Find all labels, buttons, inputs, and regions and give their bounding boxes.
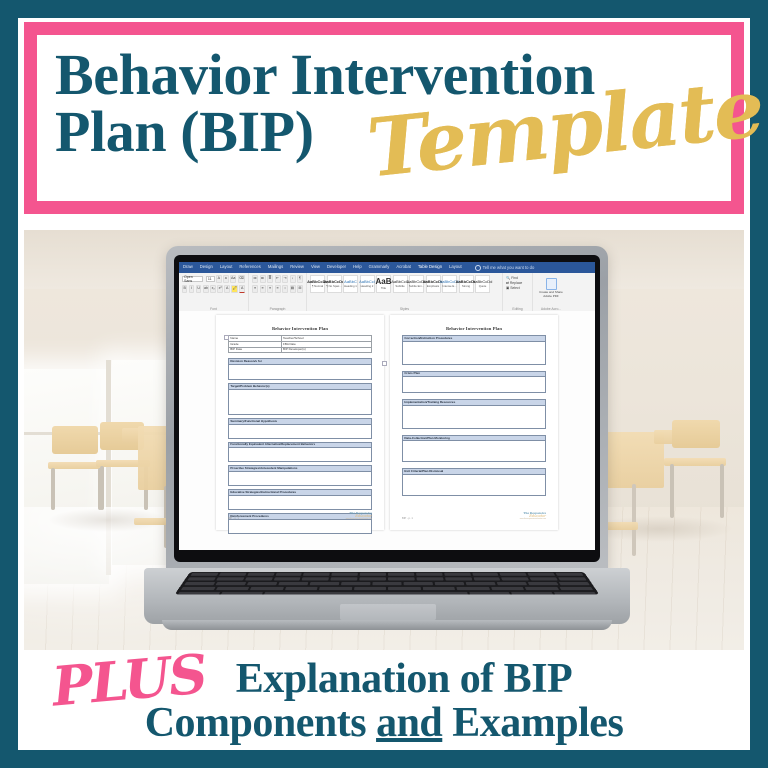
clear-formatting-icon[interactable]: ⌫ <box>238 275 245 283</box>
bold-icon[interactable]: B <box>182 285 187 293</box>
align-center-icon[interactable]: ≡ <box>260 285 266 293</box>
document-title: Behavior Intervention Plan <box>228 326 372 331</box>
section-body[interactable] <box>402 377 546 393</box>
decrease-indent-icon[interactable]: ⇤ <box>275 275 281 283</box>
justify-icon[interactable]: ≡ <box>275 285 281 293</box>
bottom-line-2-part-c: Examples <box>442 700 623 746</box>
plus-script-word: PLUS <box>50 641 209 718</box>
section-header: Revision Reason/s for <box>228 358 372 365</box>
chair-leg <box>670 464 674 518</box>
table-move-handle[interactable] <box>224 335 229 340</box>
word-ribbon-tabs[interactable]: Draw Design Layout References Mailings R… <box>179 262 595 273</box>
find-button[interactable]: 🔍 Find <box>506 277 529 280</box>
table-resize-handle[interactable] <box>382 361 387 366</box>
section-header: Data-Collection/Plan Monitoring <box>402 435 546 442</box>
tell-me-placeholder: Tell me what you want to do <box>483 265 535 270</box>
ribbon-group-styles: AaBbCcDd ¶ Normal AaBbCcDd ¶ No Spac... … <box>307 273 503 311</box>
section-summary-hypothesis[interactable]: Summary/Functional Hypothesis <box>228 418 372 439</box>
section-crisis-plan[interactable]: Crisis Plan <box>402 371 546 394</box>
style-label: Heading 1 <box>344 285 357 288</box>
sort-icon[interactable]: ↓ <box>290 275 296 283</box>
superscript-icon[interactable]: x² <box>217 285 222 293</box>
style-intense-emphasis[interactable]: AaBbCcDd Intense E... <box>442 275 457 293</box>
brand-logo: The Responsive Educator www.theresponsiv… <box>346 512 372 521</box>
section-body[interactable] <box>228 448 372 462</box>
style-label: Heading 2 <box>361 285 374 288</box>
replace-label: Replace <box>510 282 522 285</box>
tab-design[interactable]: Design <box>200 265 213 269</box>
style-label: Quote <box>479 285 487 288</box>
section-header: Summary/Functional Hypothesis <box>228 418 372 425</box>
chair-leg <box>720 464 724 518</box>
font-size-box[interactable]: 11 <box>206 276 215 282</box>
page-footer: BIP - p. 1 The Responsive Educator www.t… <box>402 512 546 521</box>
title-banner: Behavior Intervention Plan (BIP) Templat… <box>24 22 744 214</box>
tab-draw[interactable]: Draw <box>183 265 193 269</box>
desk-leg <box>632 484 636 556</box>
section-header: Target/Problem Behavior(s) <box>228 383 372 390</box>
style-label: Intense E... <box>442 285 456 288</box>
section-body[interactable] <box>228 390 372 415</box>
tab-help[interactable]: Help <box>353 265 362 269</box>
create-share-adobe-pdf-button[interactable]: Create and Share Adobe PDF <box>536 275 566 301</box>
style-emphasis[interactable]: AaBbCcDd Emphasis <box>426 275 441 293</box>
style-sample: AaBbCcI <box>359 280 375 284</box>
tab-references[interactable]: References <box>239 265 260 269</box>
find-icon: 🔍 <box>506 277 510 280</box>
tab-developer[interactable]: Developer <box>327 265 346 269</box>
shading-icon[interactable]: ▤ <box>290 285 296 293</box>
cell-bip-date-label: BIP Date <box>229 347 282 353</box>
section-header: Crisis Plan <box>402 371 546 378</box>
italic-icon[interactable]: I <box>189 285 194 293</box>
document-page-1[interactable]: Behavior Intervention Plan Name Teacher/… <box>216 315 384 530</box>
table-row[interactable]: BIP Date BIP Developer(s) <box>229 347 372 353</box>
brand-logo: The Responsive Educator www.theresponsiv… <box>520 512 546 521</box>
ribbon-group-adobe: Create and Share Adobe PDF Adobe Acro... <box>533 273 569 311</box>
tab-layout[interactable]: Layout <box>220 265 233 269</box>
page-number: BIP - p. 1 <box>228 518 239 521</box>
section-body[interactable] <box>228 365 372 380</box>
tab-acrobat[interactable]: Acrobat <box>396 265 410 269</box>
section-body[interactable] <box>228 520 372 534</box>
font-name-box[interactable]: Open Sans <box>182 276 203 282</box>
tab-grammarly[interactable]: Grammarly <box>369 265 390 269</box>
style-strong[interactable]: AaBbCcDd Strong <box>459 275 474 293</box>
section-header: Correction/Extinction Procedures <box>402 335 546 342</box>
tab-table-design[interactable]: Table Design <box>418 265 442 269</box>
poster-canvas: Behavior Intervention Plan (BIP) Templat… <box>0 0 768 768</box>
document-canvas[interactable]: Behavior Intervention Plan Name Teacher/… <box>179 311 595 550</box>
style-label: Strong <box>462 285 470 288</box>
section-body[interactable] <box>402 342 546 365</box>
document-page-2[interactable]: Behavior Intervention Plan Correction/Ex… <box>390 315 558 530</box>
line-spacing-icon[interactable]: ↕ <box>282 285 288 293</box>
bullets-icon[interactable]: ≔ <box>252 275 258 283</box>
section-data-collection[interactable]: Data-Collection/Plan Monitoring <box>402 435 546 463</box>
font-color-icon[interactable]: A <box>239 285 244 293</box>
select-label: Select <box>510 287 519 290</box>
style-label: Title <box>381 287 386 290</box>
classroom-photo: Draw Design Layout References Mailings R… <box>24 230 744 650</box>
style-label: ¶ Normal <box>312 285 323 288</box>
section-body[interactable] <box>228 472 372 486</box>
style-quote[interactable]: AaBbCcDd Quote <box>475 275 490 293</box>
tab-view[interactable]: View <box>311 265 320 269</box>
chair-leg <box>100 466 104 510</box>
section-body[interactable] <box>228 425 372 439</box>
style-subtle-emphasis[interactable]: AaBbCcDd Subtle Em... <box>409 275 424 293</box>
text-highlight-icon[interactable]: 🖍 <box>231 285 238 293</box>
section-exit-criteria[interactable]: Exit Criteria/Plan Dismissal <box>402 468 546 496</box>
grow-font-icon[interactable]: A <box>216 275 221 283</box>
select-icon: ▣ <box>506 287 509 290</box>
find-label: Find <box>511 277 518 280</box>
style-normal[interactable]: AaBbCcDd ¶ Normal <box>310 275 325 293</box>
section-body[interactable] <box>402 406 546 429</box>
show-marks-icon[interactable]: ¶ <box>297 275 303 283</box>
change-case-icon[interactable]: Aa <box>230 275 236 283</box>
section-replacement-behaviors[interactable]: Functionally Equivalent Alternative/Repl… <box>228 442 372 463</box>
section-target-behavior[interactable]: Target/Problem Behavior(s) <box>228 383 372 415</box>
style-subtitle[interactable]: AaBbCcC Subtitle <box>393 275 408 293</box>
lightbulb-icon <box>475 265 481 271</box>
cell-bip-developer-label: BIP Developer(s) <box>281 347 371 353</box>
style-label: Subtle Em... <box>409 285 424 288</box>
section-header: Educative Strategies/Instructional Proce… <box>228 489 372 496</box>
laptop-lid: Draw Design Layout References Mailings R… <box>166 246 608 572</box>
section-header: Functionally Equivalent Alternative/Repl… <box>228 442 372 449</box>
borders-icon[interactable]: ⊞ <box>297 285 303 293</box>
tab-mailings[interactable]: Mailings <box>268 265 283 269</box>
style-label: Emphasis <box>427 285 439 288</box>
bottom-text-block: PLUS Explanation of BIP Components and E… <box>24 650 744 746</box>
styles-gallery[interactable]: AaBbCcDd ¶ Normal AaBbCcDd ¶ No Spac... … <box>310 275 499 293</box>
section-correction-extinction[interactable]: Correction/Extinction Procedures <box>402 335 546 365</box>
increase-indent-icon[interactable]: ⇥ <box>282 275 288 283</box>
style-sample: AaBbCcDd <box>324 280 345 284</box>
section-proactive-strategies[interactable]: Proactive Strategies/Antecedent Manipula… <box>228 465 372 486</box>
strikethrough-icon[interactable]: ab <box>203 285 209 293</box>
adobe-button-label: Create and Share Adobe PDF <box>536 291 566 298</box>
section-header: Proactive Strategies/Antecedent Manipula… <box>228 465 372 472</box>
style-label: ¶ No Spac... <box>326 285 341 288</box>
tab-review[interactable]: Review <box>290 265 304 269</box>
ribbon-group-font: Open Sans 11 A a Aa ⌫ B I <box>179 273 249 311</box>
select-button[interactable]: ▣ Select <box>506 287 529 290</box>
style-sample: AaBbCcDd <box>473 280 493 284</box>
section-header: Implementation/Training Resources <box>402 399 546 406</box>
style-heading-2[interactable]: AaBbCcI Heading 2 <box>360 275 375 293</box>
section-body[interactable] <box>402 441 546 462</box>
section-body[interactable] <box>228 496 372 510</box>
tell-me-search[interactable]: Tell me what you want to do <box>475 265 535 271</box>
ribbon-group-editing: 🔍 Find ⇄ Replace ▣ Sele <box>503 273 533 311</box>
text-effects-icon[interactable]: A <box>224 285 229 293</box>
chair-back <box>672 420 720 448</box>
style-title[interactable]: AaB Title <box>376 275 391 293</box>
shrink-font-icon[interactable]: a <box>223 275 228 283</box>
laptop: Draw Design Layout References Mailings R… <box>144 246 630 638</box>
tab-table-layout[interactable]: Layout <box>449 265 462 269</box>
style-sample: AaB <box>376 278 392 286</box>
style-sample: AaBbC <box>344 280 357 284</box>
chair-back <box>52 426 98 454</box>
page-number: BIP - p. 1 <box>402 518 413 521</box>
section-header: Exit Criteria/Plan Dismissal <box>402 468 546 475</box>
ribbon-group-paragraph: ≔ ≕ ≣ ⇤ ⇥ ↓ ¶ ≡ ≡ <box>249 273 307 311</box>
page-footer: BIP - p. 1 The Responsive Educator www.t… <box>228 512 372 521</box>
student-info-table[interactable]: Name Teacher/School Grade FBA Date BIP D… <box>228 335 372 353</box>
section-revision-reason[interactable]: Revision Reason/s for <box>228 358 372 380</box>
align-left-icon[interactable]: ≡ <box>252 285 258 293</box>
underline-icon[interactable]: U <box>196 285 201 293</box>
adobe-pdf-icon <box>546 278 557 290</box>
laptop-bezel: Draw Design Layout References Mailings R… <box>174 255 600 562</box>
style-heading-1[interactable]: AaBbC Heading 1 <box>343 275 358 293</box>
laptop-front-edge <box>162 620 612 630</box>
multilevel-list-icon[interactable]: ≣ <box>267 275 273 283</box>
word-ribbon-body: Open Sans 11 A a Aa ⌫ B I <box>179 273 595 312</box>
laptop-screen: Draw Design Layout References Mailings R… <box>179 262 595 550</box>
document-title: Behavior Intervention Plan <box>402 326 546 331</box>
laptop-keyboard <box>175 572 600 594</box>
logo-line-3: www.theresponsiveeducator.com <box>520 519 546 521</box>
numbering-icon[interactable]: ≕ <box>260 275 266 283</box>
subscript-icon[interactable]: x₂ <box>210 285 215 293</box>
section-implementation-training[interactable]: Implementation/Training Resources <box>402 399 546 429</box>
replace-button[interactable]: ⇄ Replace <box>506 282 529 285</box>
style-no-spacing[interactable]: AaBbCcDd ¶ No Spac... <box>327 275 342 293</box>
bottom-line-1: Explanation of BIP <box>236 658 572 700</box>
chair-leg <box>51 468 55 510</box>
logo-line-3: www.theresponsiveeducator.com <box>346 519 372 521</box>
bottom-line-2-and: and <box>376 700 442 746</box>
replace-icon: ⇄ <box>506 282 509 285</box>
style-label: Subtitle <box>395 285 404 288</box>
section-educative-strategies[interactable]: Educative Strategies/Instructional Proce… <box>228 489 372 510</box>
align-right-icon[interactable]: ≡ <box>267 285 273 293</box>
section-body[interactable] <box>402 475 546 496</box>
laptop-trackpad <box>340 604 436 620</box>
